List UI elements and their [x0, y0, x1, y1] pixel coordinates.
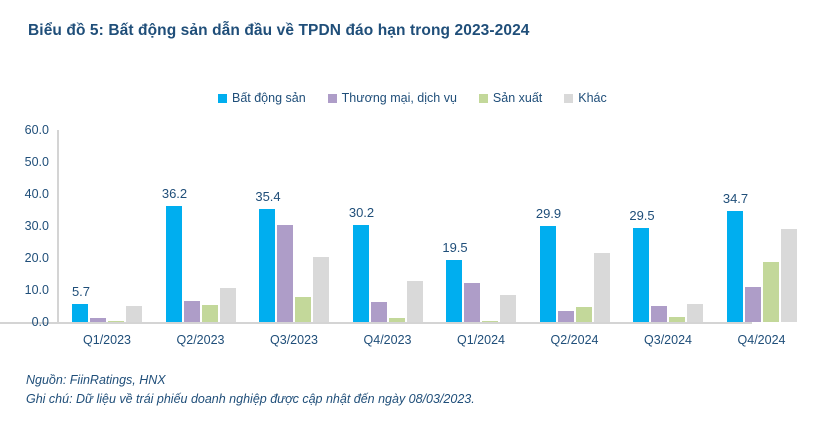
x-axis-tick-label: Q4/2023 [364, 333, 412, 347]
bar[interactable] [220, 288, 236, 322]
legend-item[interactable]: Thương mại, dịch vụ [328, 92, 457, 105]
chart-legend: Bất động sảnThương mại, dịch vụSản xuấtK… [218, 92, 607, 105]
bar[interactable] [558, 311, 574, 322]
bar[interactable] [727, 211, 743, 322]
bar-value-label: 19.5 [429, 240, 481, 255]
bar[interactable] [651, 306, 667, 322]
bar[interactable] [576, 307, 592, 322]
page-title: Biểu đồ 5: Bất động sản dẫn đầu về TPDN … [28, 22, 530, 40]
bar-value-label: 34.7 [710, 191, 762, 206]
bar-group: 30.2Q4/2023 [353, 130, 423, 322]
y-axis-tick-label: 50.0 [25, 155, 49, 169]
bar[interactable] [745, 287, 761, 322]
x-axis-tick-label: Q3/2023 [270, 333, 318, 347]
bar-value-label: 29.5 [616, 208, 668, 223]
bar[interactable] [295, 297, 311, 322]
bar-value-label: 36.2 [149, 186, 201, 201]
bar[interactable] [90, 318, 106, 322]
x-axis-tick-label: Q2/2024 [551, 333, 599, 347]
x-axis-tick-label: Q4/2024 [738, 333, 786, 347]
bar[interactable] [277, 225, 293, 322]
legend-item[interactable]: Bất động sản [218, 92, 306, 105]
legend-item-label: Khác [578, 92, 607, 105]
plot-area: 0.010.020.030.040.050.060.05.7Q1/202336.… [58, 130, 806, 322]
bar[interactable] [482, 321, 498, 322]
bar[interactable] [371, 302, 387, 322]
x-axis-tick-label: Q1/2024 [457, 333, 505, 347]
y-axis-tick-label: 30.0 [25, 219, 49, 233]
bar[interactable] [781, 229, 797, 322]
bar[interactable] [259, 209, 275, 322]
bar[interactable] [166, 206, 182, 322]
y-axis-tick-label: 60.0 [25, 123, 49, 137]
x-axis-tick-label: Q3/2024 [644, 333, 692, 347]
bar-value-label: 30.2 [336, 205, 388, 220]
bar-group: 19.5Q1/2024 [446, 130, 516, 322]
bar-value-label: 29.9 [523, 206, 575, 221]
bar[interactable] [72, 304, 88, 322]
bar[interactable] [687, 304, 703, 322]
legend-swatch-icon [328, 94, 337, 103]
legend-item[interactable]: Khác [564, 92, 607, 105]
bar-group: 35.4Q3/2023 [259, 130, 329, 322]
bar[interactable] [407, 281, 423, 322]
bar[interactable] [633, 228, 649, 322]
legend-item-label: Thương mại, dịch vụ [342, 92, 457, 105]
legend-item-label: Bất động sản [232, 92, 306, 105]
legend-swatch-icon [564, 94, 573, 103]
bar[interactable] [669, 317, 685, 322]
bar[interactable] [389, 318, 405, 322]
bar-group: 36.2Q2/2023 [166, 130, 236, 322]
bar-group: 34.7Q4/2024 [727, 130, 797, 322]
footer-source: Nguồn: FiinRatings, HNX [26, 371, 475, 390]
bar[interactable] [126, 306, 142, 322]
bar[interactable] [184, 301, 200, 322]
bar[interactable] [202, 305, 218, 322]
bar-value-label: 35.4 [242, 189, 294, 204]
footer-note: Ghi chú: Dữ liệu về trái phiếu doanh ngh… [26, 390, 475, 409]
bar[interactable] [353, 225, 369, 322]
x-axis-baseline [0, 322, 752, 324]
chart-footer: Nguồn: FiinRatings, HNX Ghi chú: Dữ liệu… [26, 371, 475, 410]
x-axis-tick-label: Q1/2023 [83, 333, 131, 347]
y-axis-tick-label: 0.0 [32, 315, 49, 329]
bar[interactable] [500, 295, 516, 322]
bar[interactable] [464, 283, 480, 322]
y-axis-tick-label: 10.0 [25, 283, 49, 297]
bar[interactable] [540, 226, 556, 322]
y-axis-tick-label: 20.0 [25, 251, 49, 265]
chart-page: Biểu đồ 5: Bất động sản dẫn đầu về TPDN … [0, 0, 820, 424]
legend-item[interactable]: Sản xuất [479, 92, 542, 105]
legend-item-label: Sản xuất [493, 92, 542, 105]
bar[interactable] [108, 321, 124, 322]
y-axis-tick-label: 40.0 [25, 187, 49, 201]
bar[interactable] [763, 262, 779, 322]
bar-group: 29.5Q3/2024 [633, 130, 703, 322]
bar-value-label: 5.7 [55, 284, 107, 299]
legend-swatch-icon [479, 94, 488, 103]
legend-swatch-icon [218, 94, 227, 103]
x-axis-tick-label: Q2/2023 [177, 333, 225, 347]
bar-group: 29.9Q2/2024 [540, 130, 610, 322]
bar[interactable] [446, 260, 462, 322]
bar[interactable] [594, 253, 610, 322]
bar[interactable] [313, 257, 329, 322]
bar-group: 5.7Q1/2023 [72, 130, 142, 322]
